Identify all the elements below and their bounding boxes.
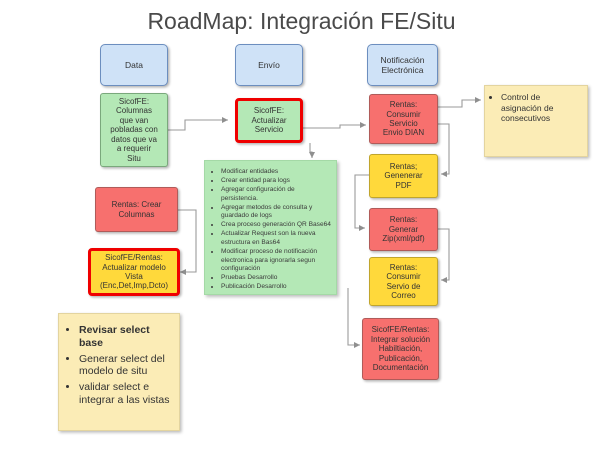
note-item: Control de asignación de consecutivos xyxy=(501,92,581,124)
phase-box-envio[interactable]: Envío xyxy=(235,44,303,86)
edge-envio-dian-to-generar-pdf xyxy=(438,124,449,174)
task-item: Agregar metodos de consulta y guardado d… xyxy=(221,204,331,221)
node-label-rentas-generar-pdf: Rentas; Genenerar PDF xyxy=(382,162,424,190)
node-rentas-crear-columnas[interactable]: Rentas: Crear Columnas xyxy=(95,187,178,232)
node-label-rentas-crear-columnas: Rentas: Crear Columnas xyxy=(110,200,164,219)
node-rentas-generar-zip[interactable]: Rentas: Generar Zip(xml/pdf) xyxy=(369,208,438,251)
tasks-green-list: Modificar entidades Crear entidad para l… xyxy=(204,160,337,295)
tasks-list: Modificar entidades Crear entidad para l… xyxy=(205,161,336,297)
phase-label-envio: Envío xyxy=(256,60,282,70)
node-label-sicoffe-rentas-integrar: SicofFE/Rentas: Integrar solución Habilt… xyxy=(369,325,432,372)
edge-consumir-correo-to-integrar xyxy=(348,288,360,345)
phase-label-notificacion: Notificación Electrónica xyxy=(379,55,427,75)
node-label-rentas-consumir-correo: Rentas: Consumir Servio de Correo xyxy=(384,263,422,301)
note-item: Revisar select base xyxy=(79,324,172,350)
node-rentas-consumir-correo[interactable]: Rentas: Consumir Servio de Correo xyxy=(369,257,438,306)
node-sicoffe-actualizar-servicio[interactable]: SicofFE: Actualizar Servicio xyxy=(235,98,303,143)
edge-envio-dian-to-consecutivos xyxy=(438,100,481,107)
node-sicoffe-rentas-modelo-vista[interactable]: SicofFE/Rentas: Actualizar modelo Vista … xyxy=(88,248,180,296)
node-rentas-generar-pdf[interactable]: Rentas; Genenerar PDF xyxy=(369,154,438,198)
phase-box-data[interactable]: Data xyxy=(100,44,168,86)
edge-actualizar-servicio-to-envio-dian xyxy=(303,125,366,128)
node-rentas-consumir-envio-dian[interactable]: Rentas: Consumir Servicio Envio DIAN xyxy=(369,94,438,144)
note-consecutivos: Control de asignación de consecutivos xyxy=(484,85,588,157)
task-item: Pruebas Desarrollo xyxy=(221,274,331,283)
edge-actualizar-servicio-to-tasks xyxy=(310,143,312,158)
node-label-rentas-generar-zip: Rentas: Generar Zip(xml/pdf) xyxy=(380,215,426,243)
node-sicoffe-columnas[interactable]: SicofFE: Columnas que van pobladas con d… xyxy=(100,93,168,167)
edge-crear-columnas-to-modelo-vista xyxy=(178,210,196,272)
task-item: Modificar proceso de notificación electr… xyxy=(221,248,331,274)
task-item: Crea proceso generación QR Base64 xyxy=(221,221,331,230)
task-item: Actualizar Request son la nueva estructu… xyxy=(221,230,331,247)
edge-generar-pdf-to-generar-zip xyxy=(355,175,369,228)
page-title: RoadMap: Integración FE/Situ xyxy=(0,8,603,35)
task-item: Modificar entidades xyxy=(221,168,331,177)
task-item: Crear entidad para logs xyxy=(221,177,331,186)
node-label-rentas-consumir-envio-dian: Rentas: Consumir Servicio Envio DIAN xyxy=(381,100,426,138)
diagram-canvas: RoadMap: Integración FE/Situ xyxy=(0,0,603,460)
task-item: Agregar configuración de persistencia. xyxy=(221,186,331,203)
note-item: Generar select del modelo de situ xyxy=(79,353,172,379)
note-select-base-list: Revisar select base Generar select del m… xyxy=(59,314,179,417)
edge-columnas-to-actualizar-servicio xyxy=(168,120,228,130)
node-label-sicoffe-columnas: SicofFE: Columnas que van pobladas con d… xyxy=(108,97,160,163)
phase-label-data: Data xyxy=(123,60,145,70)
note-item: validar select e integrar a las vistas xyxy=(79,381,172,407)
note-consecutivos-list: Control de asignación de consecutivos xyxy=(485,86,587,131)
node-label-sicoffe-actualizar-servicio: SicofFE: Actualizar Servicio xyxy=(249,106,288,134)
edge-generar-zip-to-consumir-correo xyxy=(437,229,449,280)
note-select-base: Revisar select base Generar select del m… xyxy=(58,313,180,431)
task-item: Publicación Desarrollo xyxy=(221,283,331,292)
node-label-sicoffe-rentas-modelo-vista: SicofFE/Rentas: Actualizar modelo Vista … xyxy=(98,253,170,291)
phase-box-notificacion[interactable]: Notificación Electrónica xyxy=(367,44,438,86)
node-sicoffe-rentas-integrar[interactable]: SicofFE/Rentas: Integrar solución Habilt… xyxy=(362,318,439,380)
